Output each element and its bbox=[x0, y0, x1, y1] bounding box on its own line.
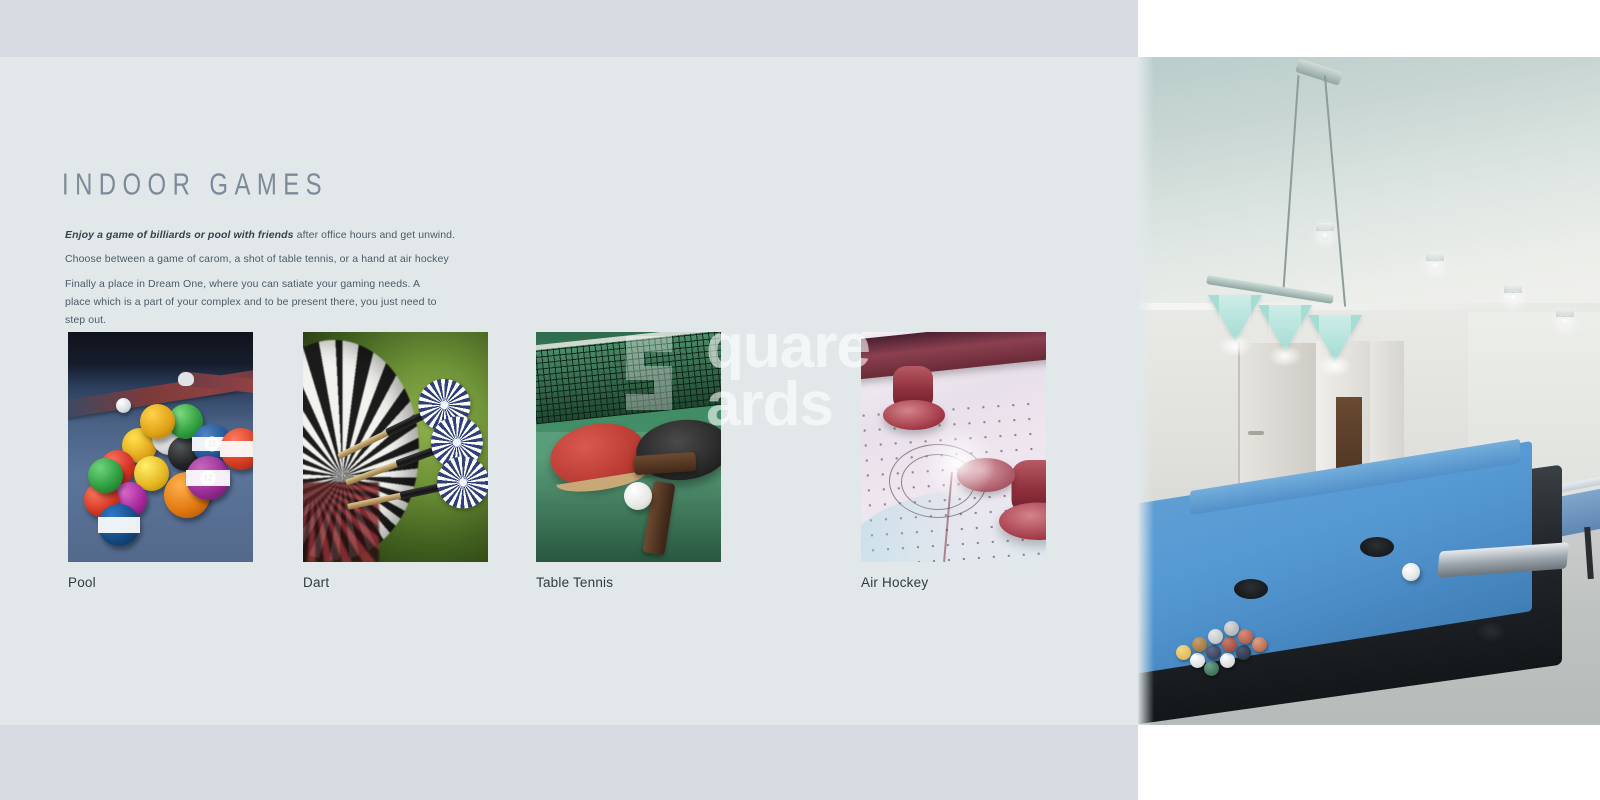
cue-ball-icon bbox=[116, 398, 131, 413]
dartboard-lower-icon bbox=[303, 482, 379, 562]
air-hockey-art bbox=[861, 332, 1046, 562]
page-title: INDOOR GAMES bbox=[62, 166, 328, 203]
indoor-games-room-photo bbox=[1138, 57, 1600, 725]
downlight-3 bbox=[1504, 285, 1522, 293]
pool-table-art: 11 12 bbox=[68, 332, 253, 562]
downlight-2 bbox=[1426, 253, 1444, 261]
lamp-glow-2 bbox=[1268, 345, 1302, 367]
table-tennis-thumbnail[interactable] bbox=[536, 332, 721, 562]
table-tennis-art bbox=[536, 332, 721, 562]
hero-art bbox=[1138, 57, 1600, 725]
caption-air-hockey: Air Hockey bbox=[861, 575, 928, 590]
bottom-band bbox=[0, 725, 1138, 800]
light-flare bbox=[919, 424, 997, 502]
ball-number: 12 bbox=[201, 471, 216, 486]
hero-left-edge-shadow bbox=[1138, 57, 1154, 725]
intro-lead-rest: after office hours and get unwind. bbox=[294, 229, 456, 241]
intro-lead-strong: Enjoy a game of billiards or pool with f… bbox=[65, 229, 294, 241]
caption-pool: Pool bbox=[68, 575, 96, 590]
rack-ball-12 bbox=[1252, 637, 1267, 652]
ball-number: 11 bbox=[205, 437, 220, 452]
rack-ball-10 bbox=[1224, 621, 1239, 636]
left-content-panel: INDOOR GAMES Enjoy a game of billiards o… bbox=[0, 0, 1138, 800]
ball-9 bbox=[140, 404, 175, 439]
intro-line-2: Choose between a game of carom, a shot o… bbox=[65, 250, 465, 269]
rack-ball-1 bbox=[1176, 645, 1191, 660]
pool-thumbnail[interactable]: 11 12 bbox=[68, 332, 253, 562]
caption-table-tennis: Table Tennis bbox=[536, 575, 613, 590]
downlight-1 bbox=[1316, 223, 1334, 231]
lamp-glow-3 bbox=[1318, 355, 1352, 377]
ping-pong-ball-icon bbox=[624, 482, 652, 510]
rack-ball-11 bbox=[1238, 629, 1253, 644]
ball-10-stripe bbox=[98, 504, 140, 546]
pool-pocket-side bbox=[1234, 579, 1268, 599]
gallery-row: 11 12 bbox=[0, 332, 1138, 612]
rack-ball-3 bbox=[1204, 661, 1219, 676]
rack-ball-2 bbox=[1190, 653, 1205, 668]
rack-ball-9 bbox=[1236, 645, 1251, 660]
ball-12-stripe: 12 bbox=[186, 456, 230, 500]
pool-pocket-icon bbox=[178, 372, 194, 386]
top-band bbox=[0, 0, 1138, 57]
pool-pocket-corner bbox=[1474, 623, 1508, 643]
rack-ball-4 bbox=[1192, 637, 1207, 652]
brochure-page: INDOOR GAMES Enjoy a game of billiards o… bbox=[0, 0, 1600, 800]
pool-pocket-top bbox=[1360, 537, 1394, 557]
intro-line-1: Enjoy a game of billiards or pool with f… bbox=[65, 226, 465, 245]
intro-copy: Enjoy a game of billiards or pool with f… bbox=[65, 226, 465, 335]
lamp-glow-1 bbox=[1218, 335, 1252, 357]
rack-ball-8 bbox=[1222, 637, 1237, 652]
dart-thumbnail[interactable] bbox=[303, 332, 488, 562]
hero-cue-ball bbox=[1402, 563, 1420, 581]
intro-line-3: Finally a place in Dream One, where you … bbox=[65, 275, 443, 329]
caption-dart: Dart bbox=[303, 575, 329, 590]
dartboard-art bbox=[303, 332, 488, 562]
rack-ball-7 bbox=[1208, 629, 1223, 644]
downlight-4 bbox=[1556, 309, 1574, 317]
air-hockey-thumbnail[interactable] bbox=[861, 332, 1046, 562]
rack-ball-6 bbox=[1220, 653, 1235, 668]
air-hockey-rail-icon bbox=[861, 332, 1046, 380]
ball-14 bbox=[88, 458, 123, 493]
rack-ball-5 bbox=[1206, 645, 1221, 660]
